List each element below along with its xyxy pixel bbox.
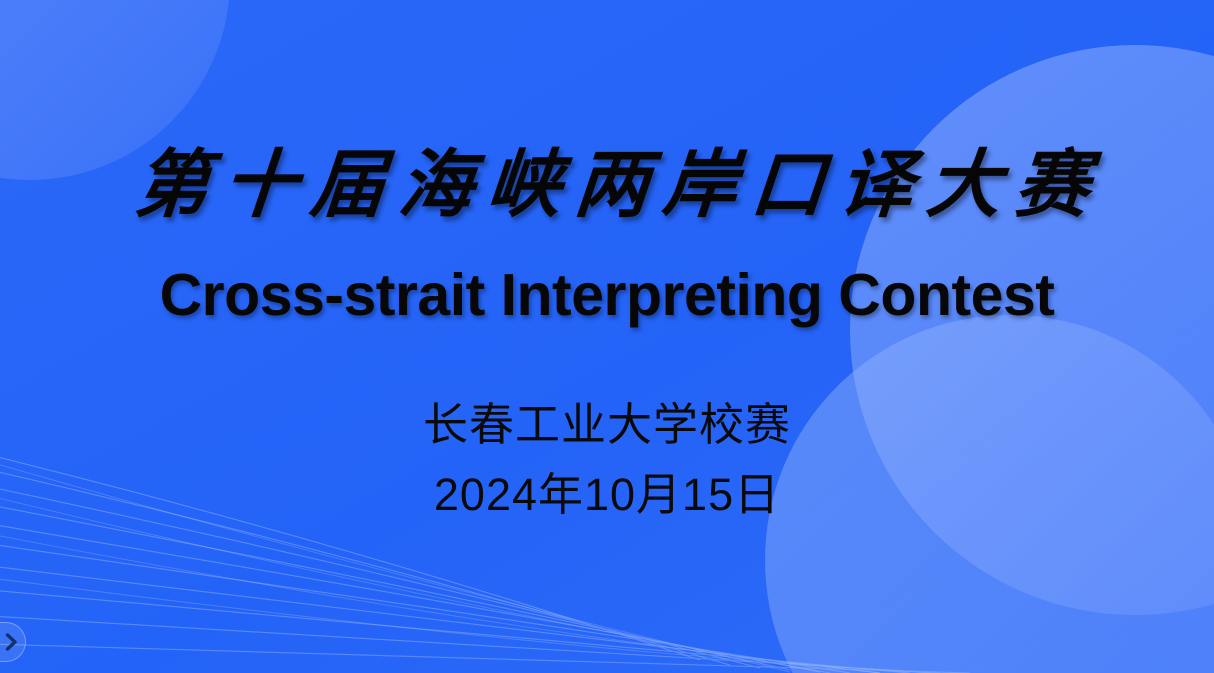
venue-text: 长春工业大学校赛	[0, 398, 1214, 452]
date-text: 2024年10月15日	[0, 468, 1214, 522]
slide-content: 第十届海峡两岸口译大赛 Cross-strait Interpreting Co…	[0, 0, 1214, 673]
chevron-right-icon	[5, 633, 18, 651]
presentation-slide: 第十届海峡两岸口译大赛 Cross-strait Interpreting Co…	[0, 0, 1214, 673]
title-chinese: 第十届海峡两岸口译大赛	[0, 148, 1214, 222]
title-english: Cross-strait Interpreting Contest	[0, 262, 1214, 330]
